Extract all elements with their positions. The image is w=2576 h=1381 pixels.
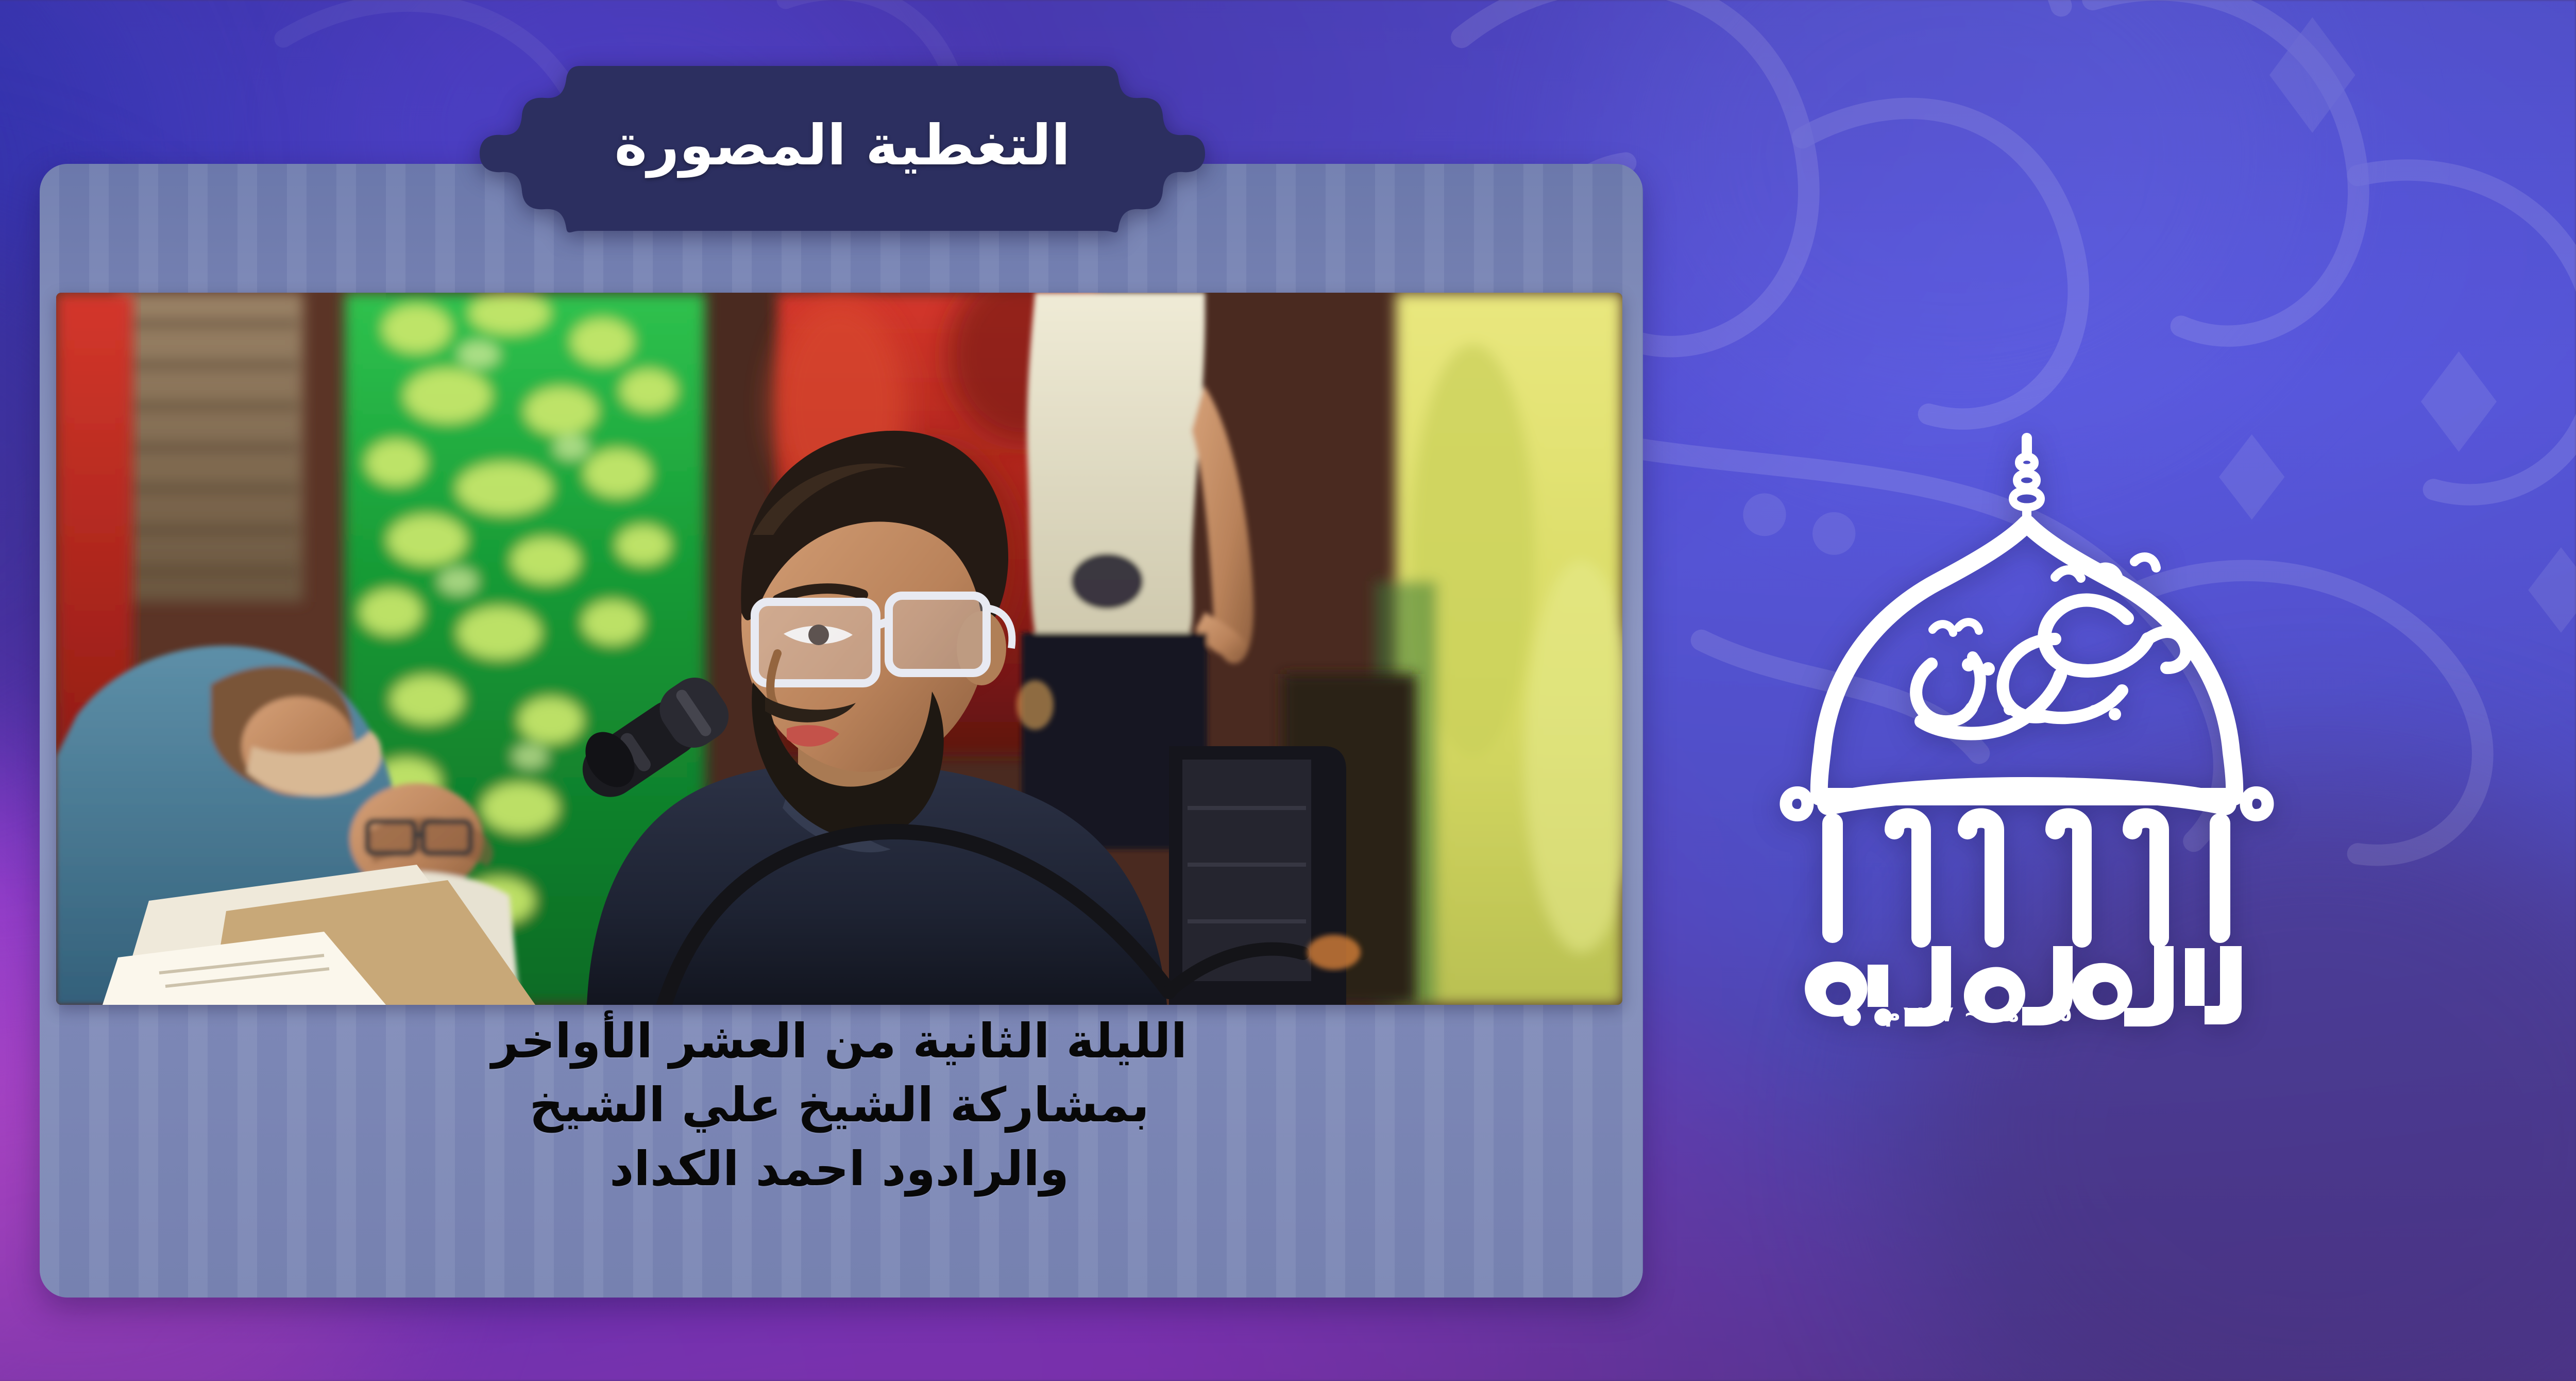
event-photo-frame[interactable]: [56, 293, 1622, 1005]
caption-line-2: بمشاركة الشيخ علي الشيخ: [99, 1081, 1579, 1130]
caption-line-3: والرادود احمد الكداد: [99, 1145, 1579, 1193]
organization-logo[interactable]: ١٢٩٥هـ ~ ١٨٧٧م: [1767, 423, 2287, 1031]
banner-title: التغطية المصورة: [477, 66, 1208, 231]
foundation-date-separator: ~: [1963, 1001, 1981, 1026]
husseiniya-calligraphy-icon: [1916, 557, 2187, 734]
caption-line-1: الليلة الثانية من العشر الأواخر: [99, 1017, 1579, 1066]
foundation-date-gregorian: ١٨٧٧م: [1885, 1001, 1954, 1027]
event-photo[interactable]: [56, 293, 1622, 1005]
foundation-date-text: ١٢٩٥هـ: [1996, 1001, 2072, 1026]
caption-block: الليلة الثانية من العشر الأواخر بمشاركة …: [61, 1014, 1617, 1292]
mosque-dome-logo-icon[interactable]: ١٢٩٥هـ ~ ١٨٧٧م: [1767, 423, 2287, 1031]
foundation-date: ١٢٩٥هـ ~ ١٨٧٧م: [1885, 1001, 2072, 1027]
header-banner: التغطية المصورة: [477, 66, 1208, 231]
